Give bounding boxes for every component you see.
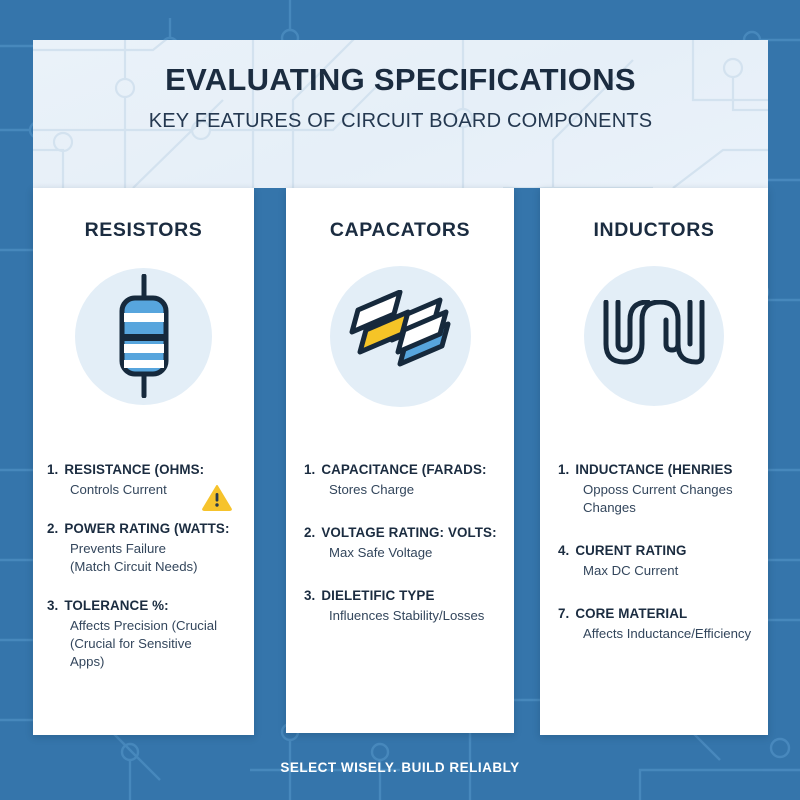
- spec-description: Max Safe Voltage: [304, 544, 514, 562]
- spec-item: 2. POWER RATING (WATTS: Prevents Failure…: [47, 521, 254, 576]
- spec-item: 4. CURENT RATING Max DC Current: [558, 543, 768, 580]
- spec-heading: INDUCTANCE (HENRIES: [575, 462, 732, 479]
- icon-circle: [75, 268, 212, 405]
- icon-circle: [584, 266, 724, 406]
- spec-number: 3.: [47, 598, 58, 615]
- spec-number: 3.: [304, 588, 315, 605]
- spec-description: Affects Precision (Crucial(Crucial for S…: [47, 617, 254, 672]
- spec-heading: CORE MATERIAL: [575, 606, 687, 623]
- spec-heading: POWER RATING (WATTS:: [64, 521, 229, 538]
- header-panel: EVALUATING SPECIFICATIONS KEY FEATURES O…: [33, 40, 768, 188]
- icon-container: [540, 260, 768, 412]
- component-card-capacitors: CAPACATORS 1. CAPACITANCE (FARADS: Store…: [286, 188, 514, 733]
- footer-tagline: SELECT WISELY. BUILD RELIABLY: [0, 760, 800, 775]
- spec-item: 2. VOLTAGE RATING: VOLTS: Max Safe Volta…: [304, 525, 514, 562]
- spec-description: Influences Stability/Losses: [304, 607, 514, 625]
- spec-heading: TOLERANCE %:: [64, 598, 168, 615]
- warning-triangle-icon: [202, 484, 232, 511]
- spec-heading: CURENT RATING: [575, 543, 686, 560]
- spec-description: Max DC Current: [558, 562, 768, 580]
- spec-number: 2.: [304, 525, 315, 542]
- spec-item: 3. DIELETIFIC TYPE Influences Stability/…: [304, 588, 514, 625]
- spec-number: 1.: [47, 462, 58, 479]
- card-title: INDUCTORS: [540, 219, 768, 242]
- capacitor-stack-icon: [344, 290, 456, 382]
- spec-number: 1.: [304, 462, 315, 479]
- icon-circle: [330, 266, 471, 407]
- spec-number: 2.: [47, 521, 58, 538]
- spec-item: 7. CORE MATERIAL Affects Inductance/Effi…: [558, 606, 768, 643]
- spec-list: 1. RESISTANCE (OHMS: Controls Current 2.…: [33, 462, 254, 672]
- page-subtitle: KEY FEATURES OF CIRCUIT BOARD COMPONENTS: [33, 110, 768, 133]
- spec-description: Stores Charge: [304, 481, 514, 499]
- page-title: EVALUATING SPECIFICATIONS: [33, 63, 768, 97]
- spec-list: 1. INDUCTANCE (HENRIES Opposs Current Ch…: [540, 462, 768, 643]
- spec-heading: VOLTAGE RATING: VOLTS:: [321, 525, 496, 542]
- spec-description: Opposs Current ChangesChanges: [558, 481, 768, 517]
- spec-heading: CAPACITANCE (FARADS:: [321, 462, 486, 479]
- spec-item: 1. CAPACITANCE (FARADS: Stores Charge: [304, 462, 514, 499]
- spec-number: 4.: [558, 543, 569, 560]
- component-card-resistors: RESISTORS 1. RESISTANCE (OHMS: C: [33, 188, 254, 735]
- icon-container: [286, 260, 514, 412]
- spec-item: 3. TOLERANCE %: Affects Precision (Cruci…: [47, 598, 254, 671]
- resistor-icon: [94, 274, 194, 398]
- card-title: RESISTORS: [33, 219, 254, 242]
- spec-heading: DIELETIFIC TYPE: [321, 588, 434, 605]
- spec-description: Affects Inductance/Efficiency: [558, 625, 768, 643]
- spec-list: 1. CAPACITANCE (FARADS: Stores Charge 2.…: [286, 462, 514, 625]
- card-title: CAPACATORS: [286, 219, 514, 242]
- component-card-inductors: INDUCTORS 1. INDUCTANCE (HENRIES Opposs …: [540, 188, 768, 735]
- icon-container: [33, 260, 254, 412]
- spec-item: 1. INDUCTANCE (HENRIES Opposs Current Ch…: [558, 462, 768, 517]
- spec-heading: RESISTANCE (OHMS:: [64, 462, 204, 479]
- spec-description: Prevents Failure(Match Circuit Needs): [47, 540, 254, 576]
- spec-number: 7.: [558, 606, 569, 623]
- spec-number: 1.: [558, 462, 569, 479]
- inductor-coil-icon: [600, 300, 708, 372]
